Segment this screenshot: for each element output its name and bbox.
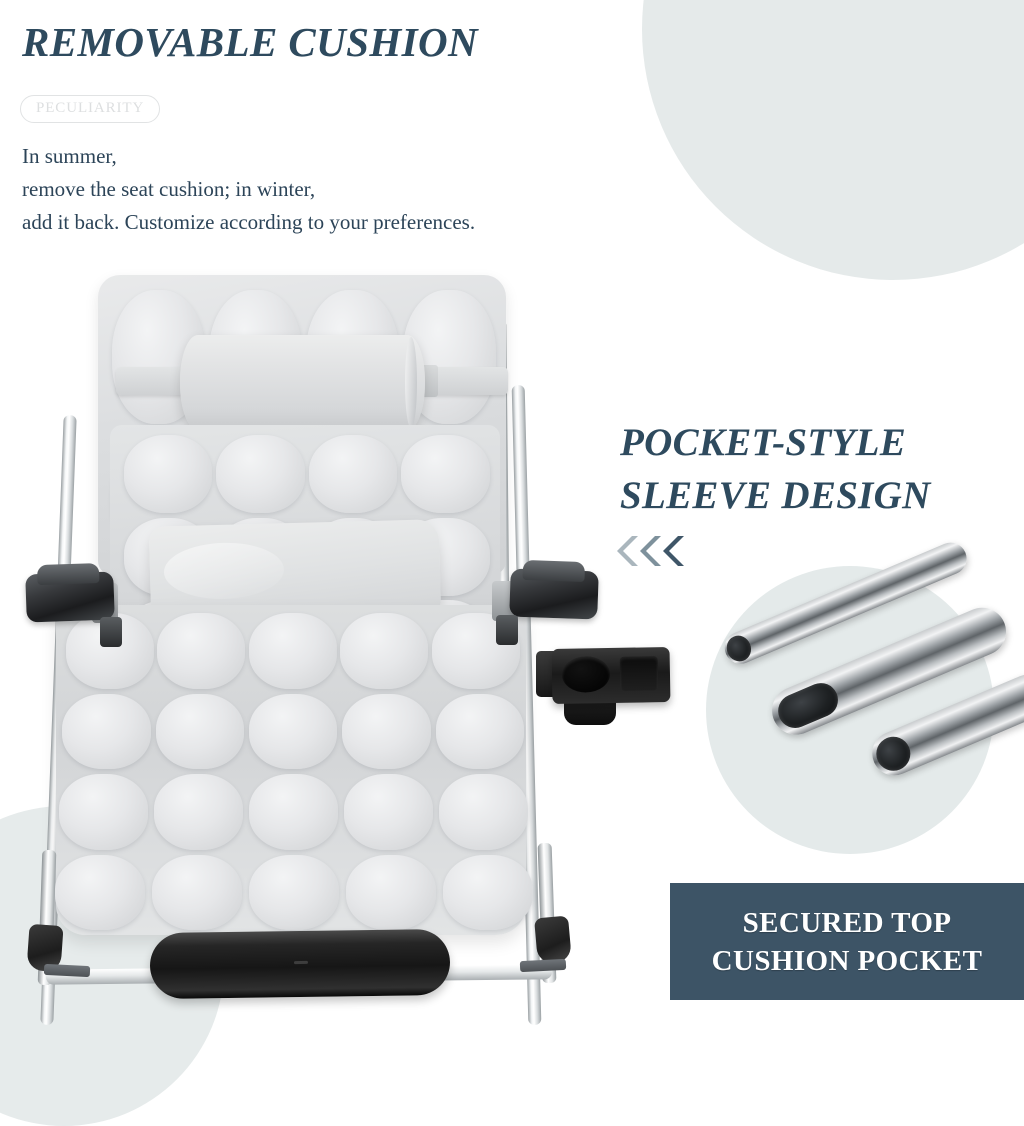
chevron-group — [616, 536, 684, 566]
pocket-sleeve-title-line-1: POCKET-STYLE — [620, 416, 931, 469]
description-line-3: add it back. Customize according to your… — [22, 206, 475, 239]
frame-foot-left — [44, 964, 91, 977]
banner-line-2: CUSHION POCKET — [712, 942, 983, 980]
cup-holder-opening — [562, 656, 611, 693]
round-tube-small-bore — [871, 732, 916, 777]
chevron-left-mid-icon — [639, 536, 661, 566]
cushion-puff — [152, 855, 242, 931]
pocket-sleeve-title-line-2: SLEEVE DESIGN — [620, 469, 931, 522]
steel-tube-inset-photo — [706, 566, 994, 854]
cushion-puff — [249, 613, 337, 689]
cushion-puff — [157, 613, 245, 689]
description-line-2: remove the seat cushion; in winter, — [22, 173, 475, 206]
cushion-puff — [249, 855, 339, 931]
cushion-puff — [55, 855, 145, 931]
cushion-puff — [436, 694, 525, 770]
feature-description: In summer, remove the seat cushion; in w… — [22, 140, 475, 239]
round-tube-large-bore — [723, 632, 755, 665]
decorative-circle-top-right — [642, 0, 1024, 280]
flat-oval-tube-bore — [773, 678, 843, 734]
cushion-puff — [439, 774, 528, 850]
cushion-puff — [59, 774, 148, 850]
frame-foot-right — [520, 959, 567, 972]
secured-top-cushion-pocket-banner: SECURED TOP CUSHION POCKET — [670, 883, 1024, 1000]
product-image-recliner-chair — [0, 265, 640, 1024]
seat-tufting — [56, 605, 526, 935]
pocket-sleeve-title: POCKET-STYLE SLEEVE DESIGN — [620, 416, 931, 522]
peculiarity-badge: PECULIARITY — [20, 95, 160, 123]
cushion-puff — [340, 613, 428, 689]
cushion-puff — [156, 694, 245, 770]
seat-cushion — [56, 605, 526, 935]
description-line-1: In summer, — [22, 140, 475, 173]
armrest-right — [509, 568, 599, 619]
phone-slot — [620, 656, 659, 691]
banner-line-1: SECURED TOP — [743, 904, 952, 942]
cushion-puff — [401, 435, 490, 513]
side-tray-cup-holder — [552, 647, 671, 704]
cushion-puff — [342, 694, 431, 770]
cushion-puff — [249, 694, 338, 770]
frame-corner-cap-right — [534, 916, 572, 965]
armrest-pivot-left — [100, 617, 122, 647]
poster-canvas: REMOVABLE CUSHION PECULIARITY In summer,… — [0, 0, 1024, 1024]
cushion-puff — [346, 855, 436, 931]
footrest-bar — [150, 929, 451, 999]
cushion-puff — [62, 694, 151, 770]
page-title: REMOVABLE CUSHION — [22, 18, 478, 66]
headrest-roll-pillow — [180, 335, 425, 430]
cushion-puff — [154, 774, 243, 850]
armrest-pivot-right — [496, 615, 518, 645]
cushion-puff — [249, 774, 338, 850]
cushion-puff — [124, 435, 213, 513]
cushion-puff — [216, 435, 305, 513]
cushion-puff — [443, 855, 533, 931]
cushion-puff — [344, 774, 433, 850]
chevron-left-light-icon — [616, 536, 638, 566]
armrest-left — [25, 571, 115, 622]
chevron-left-dark-icon — [662, 536, 684, 566]
cushion-puff — [309, 435, 398, 513]
